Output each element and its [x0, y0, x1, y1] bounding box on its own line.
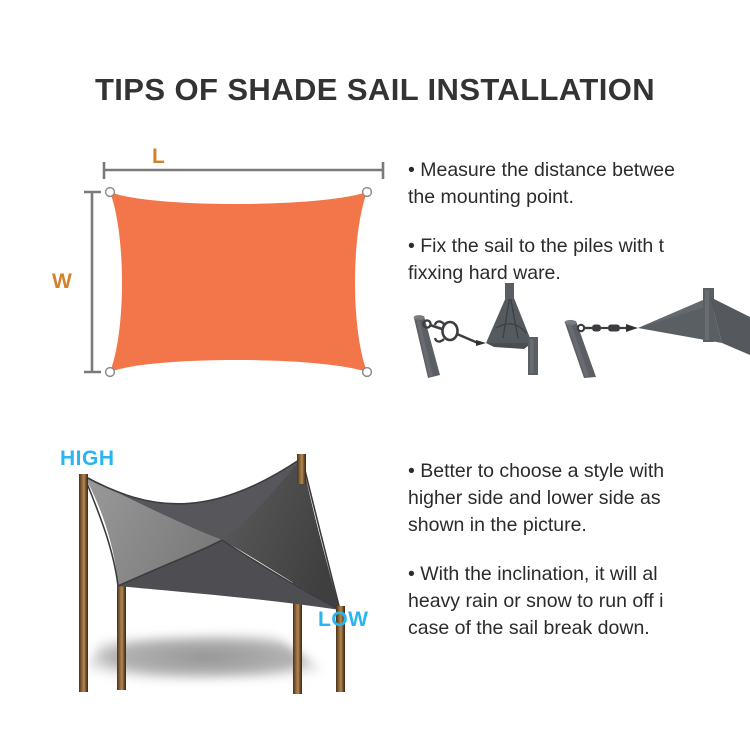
high-side-label: HIGH — [60, 447, 115, 471]
hardware-svg — [400, 283, 750, 378]
length-dimension-line — [104, 162, 383, 179]
rectangle-sail-diagram — [70, 140, 400, 405]
hyperbolic-sail-diagram — [40, 440, 410, 705]
width-dimension-line — [84, 192, 101, 372]
infographic-page: TIPS OF SHADE SAIL INSTALLATION — [0, 0, 750, 750]
tip-inclination-runoff: • With the inclination, it will al heavy… — [408, 561, 750, 642]
sail-corner-plate — [486, 283, 538, 375]
rectangle-sail-svg — [70, 140, 400, 405]
tip-choose-high-low-style: • Better to choose a style with higher s… — [408, 458, 750, 539]
tip-fix-sail-to-piles: • Fix the sail to the piles with t fixxi… — [408, 233, 750, 287]
grommet-ring — [106, 188, 115, 197]
post-front-left-tall — [79, 474, 88, 692]
tips-top-list: • Measure the distance betwee the mounti… — [408, 157, 750, 287]
turnbuckle-icon — [578, 324, 638, 332]
hardware-illustrations — [400, 283, 750, 378]
length-label: L — [152, 145, 165, 169]
sail-corner — [638, 288, 750, 355]
hyperbolic-sail-svg — [40, 440, 410, 705]
grommet-ring — [363, 188, 372, 197]
hardware-item-2 — [565, 288, 750, 378]
page-title: TIPS OF SHADE SAIL INSTALLATION — [0, 72, 750, 108]
orange-sail-shape — [110, 192, 367, 372]
grommet-ring — [363, 368, 372, 377]
width-label: W — [52, 270, 72, 294]
post-tall-back-right — [297, 454, 306, 484]
hardware-item-1 — [414, 283, 538, 378]
tip-measure-distance: • Measure the distance betwee the mounti… — [408, 157, 750, 211]
low-side-label: LOW — [318, 608, 368, 632]
grommet-ring — [106, 368, 115, 377]
turnbuckle-icon — [423, 320, 486, 346]
post-back-left — [117, 586, 126, 690]
tips-bottom-list: • Better to choose a style with higher s… — [408, 458, 750, 642]
